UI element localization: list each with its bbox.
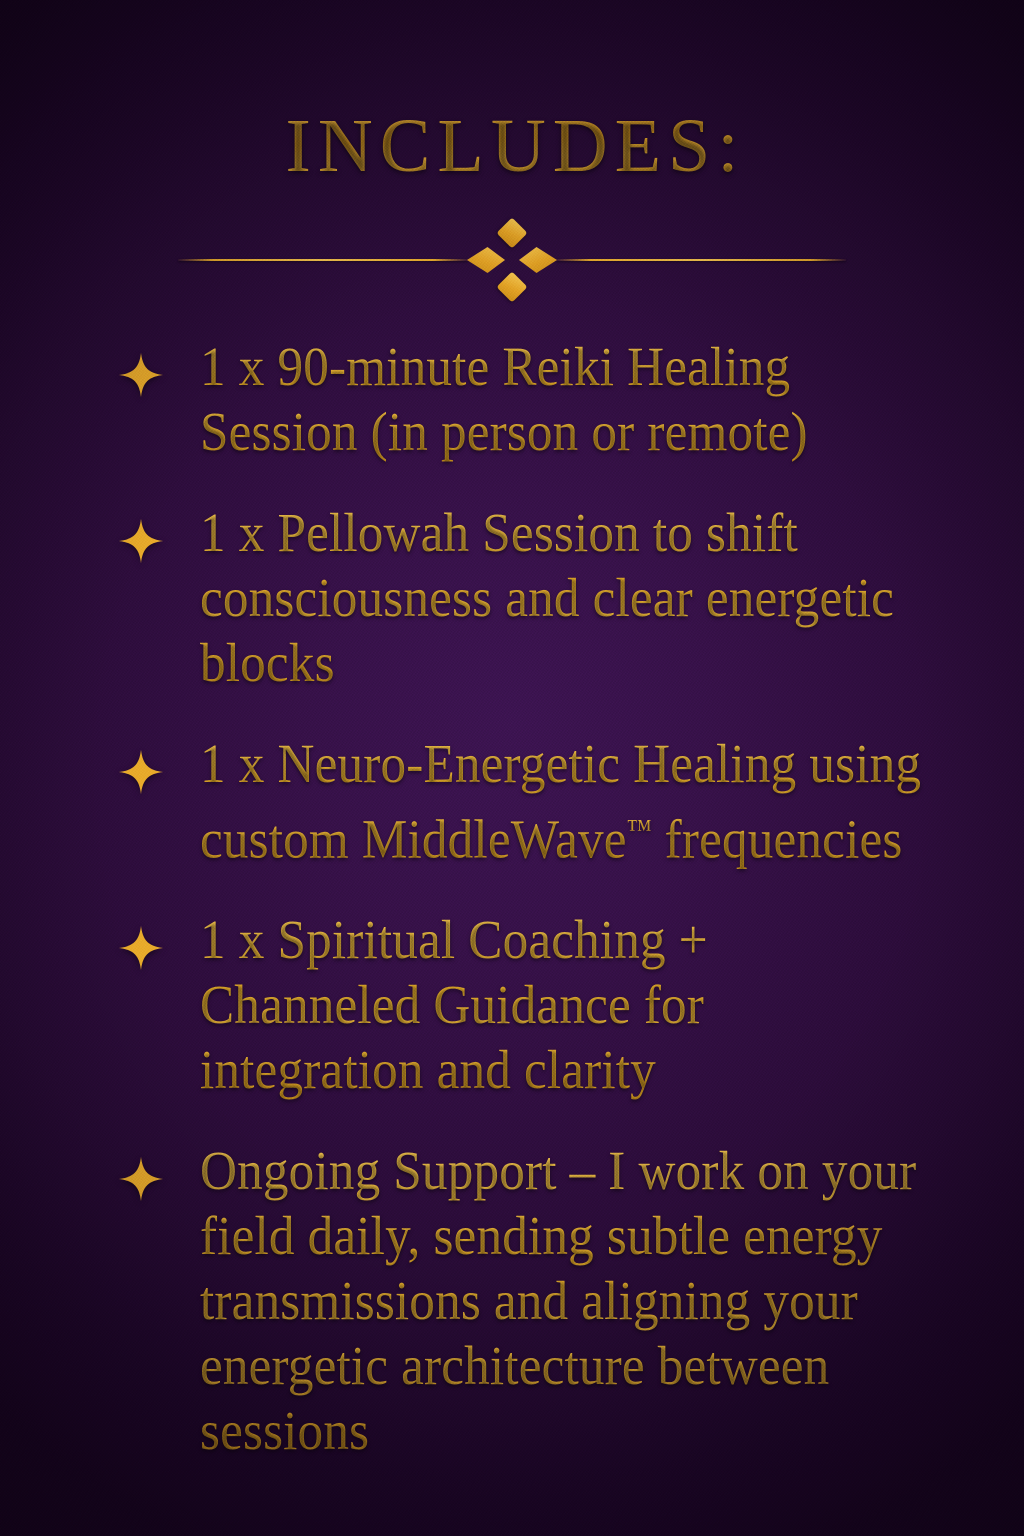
list-item: 1 x Neuro-Energetic Healing using custom… xyxy=(0,731,1024,871)
four-pointed-star-icon xyxy=(118,1156,164,1202)
divider-rule-right xyxy=(556,259,846,261)
diamond-right-icon xyxy=(519,247,557,273)
ornamental-divider xyxy=(178,224,846,296)
list-item-text: 1 x Spiritual Coaching + Channeled Guida… xyxy=(200,907,922,1102)
page-title: INCLUDES: xyxy=(0,108,1024,184)
list-item-text-tail: frequencies xyxy=(652,808,903,869)
list-item-text: Ongoing Support – I work on your field d… xyxy=(200,1138,922,1463)
four-pointed-star-icon xyxy=(118,352,164,398)
diamond-top-icon xyxy=(496,217,527,248)
diamond-left-icon xyxy=(467,247,505,273)
list-item-text: 1 x 90-minute Reiki Healing Session (in … xyxy=(200,334,922,464)
list-item: Ongoing Support – I work on your field d… xyxy=(0,1138,1024,1463)
includes-list: 1 x 90-minute Reiki Healing Session (in … xyxy=(0,334,1024,1463)
poster-canvas: INCLUDES: 1 x 90-minute Reiki Healing Se… xyxy=(0,0,1024,1536)
list-item-text: 1 x Pellowah Session to shift consciousn… xyxy=(200,500,922,695)
four-pointed-star-icon xyxy=(118,518,164,564)
diamond-bottom-icon xyxy=(496,271,527,302)
title-block: INCLUDES: xyxy=(0,0,1024,184)
four-pointed-star-icon xyxy=(118,925,164,971)
divider-rule-left xyxy=(178,259,468,261)
list-item: 1 x Pellowah Session to shift consciousn… xyxy=(0,500,1024,695)
list-item-text: 1 x Neuro-Energetic Healing using custom… xyxy=(200,731,922,871)
trademark-icon: ™ xyxy=(627,813,652,844)
list-item: 1 x Spiritual Coaching + Channeled Guida… xyxy=(0,907,1024,1102)
four-pointed-star-icon xyxy=(118,749,164,795)
list-item: 1 x 90-minute Reiki Healing Session (in … xyxy=(0,334,1024,464)
poster-content: INCLUDES: 1 x 90-minute Reiki Healing Se… xyxy=(0,0,1024,1536)
